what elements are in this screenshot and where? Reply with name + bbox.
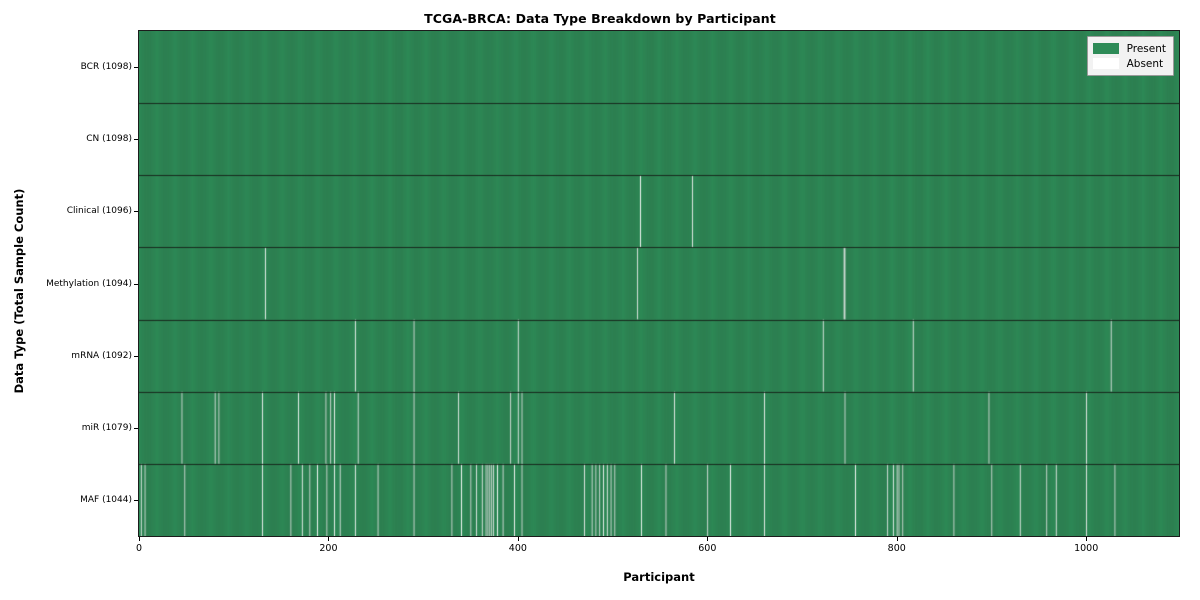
y-axis-tick-label-bcr: BCR (1098) — [0, 62, 132, 72]
x-axis-tick-label: 800 — [888, 543, 906, 554]
legend-item-absent[interactable]: Absent — [1093, 56, 1166, 71]
y-axis-title: Data Type (Total Sample Count) — [12, 141, 26, 441]
chart-title: TCGA-BRCA: Data Type Breakdown by Partic… — [0, 11, 1200, 26]
x-axis-title: Participant — [138, 570, 1180, 584]
x-axis-tick-mark — [139, 537, 140, 541]
y-axis-tick-label-methylation: Methylation (1094) — [0, 279, 132, 289]
y-axis-tick-label-mrna: mRNA (1092) — [0, 351, 132, 361]
heatmap-plot-area: PresentAbsent — [138, 30, 1180, 537]
x-axis-tick-mark — [707, 537, 708, 541]
heatmap-matrix — [139, 31, 1179, 536]
x-axis-tick-mark — [897, 537, 898, 541]
x-axis-tick-mark — [518, 537, 519, 541]
y-axis-tick-label-clinical: Clinical (1096) — [0, 206, 132, 216]
legend-swatch-present — [1093, 43, 1119, 54]
chart-figure: TCGA-BRCA: Data Type Breakdown by Partic… — [0, 0, 1200, 600]
x-axis-tick-label: 1000 — [1074, 543, 1098, 554]
legend-label: Present — [1127, 43, 1166, 55]
x-axis-tick-mark — [1086, 537, 1087, 541]
chart-legend[interactable]: PresentAbsent — [1087, 36, 1174, 76]
y-axis-tick-label-cn: CN (1098) — [0, 134, 132, 144]
x-axis-tick-mark — [328, 537, 329, 541]
y-axis-tick-label-mir: miR (1079) — [0, 423, 132, 433]
legend-label: Absent — [1127, 58, 1164, 70]
x-axis-tick-label: 0 — [136, 543, 142, 554]
legend-item-present[interactable]: Present — [1093, 41, 1166, 56]
x-axis-tick-label: 200 — [319, 543, 337, 554]
y-axis-tick-label-maf: MAF (1044) — [0, 495, 132, 505]
x-axis-tick-label: 400 — [509, 543, 527, 554]
legend-swatch-absent — [1093, 58, 1119, 69]
x-axis-tick-label: 600 — [698, 543, 716, 554]
